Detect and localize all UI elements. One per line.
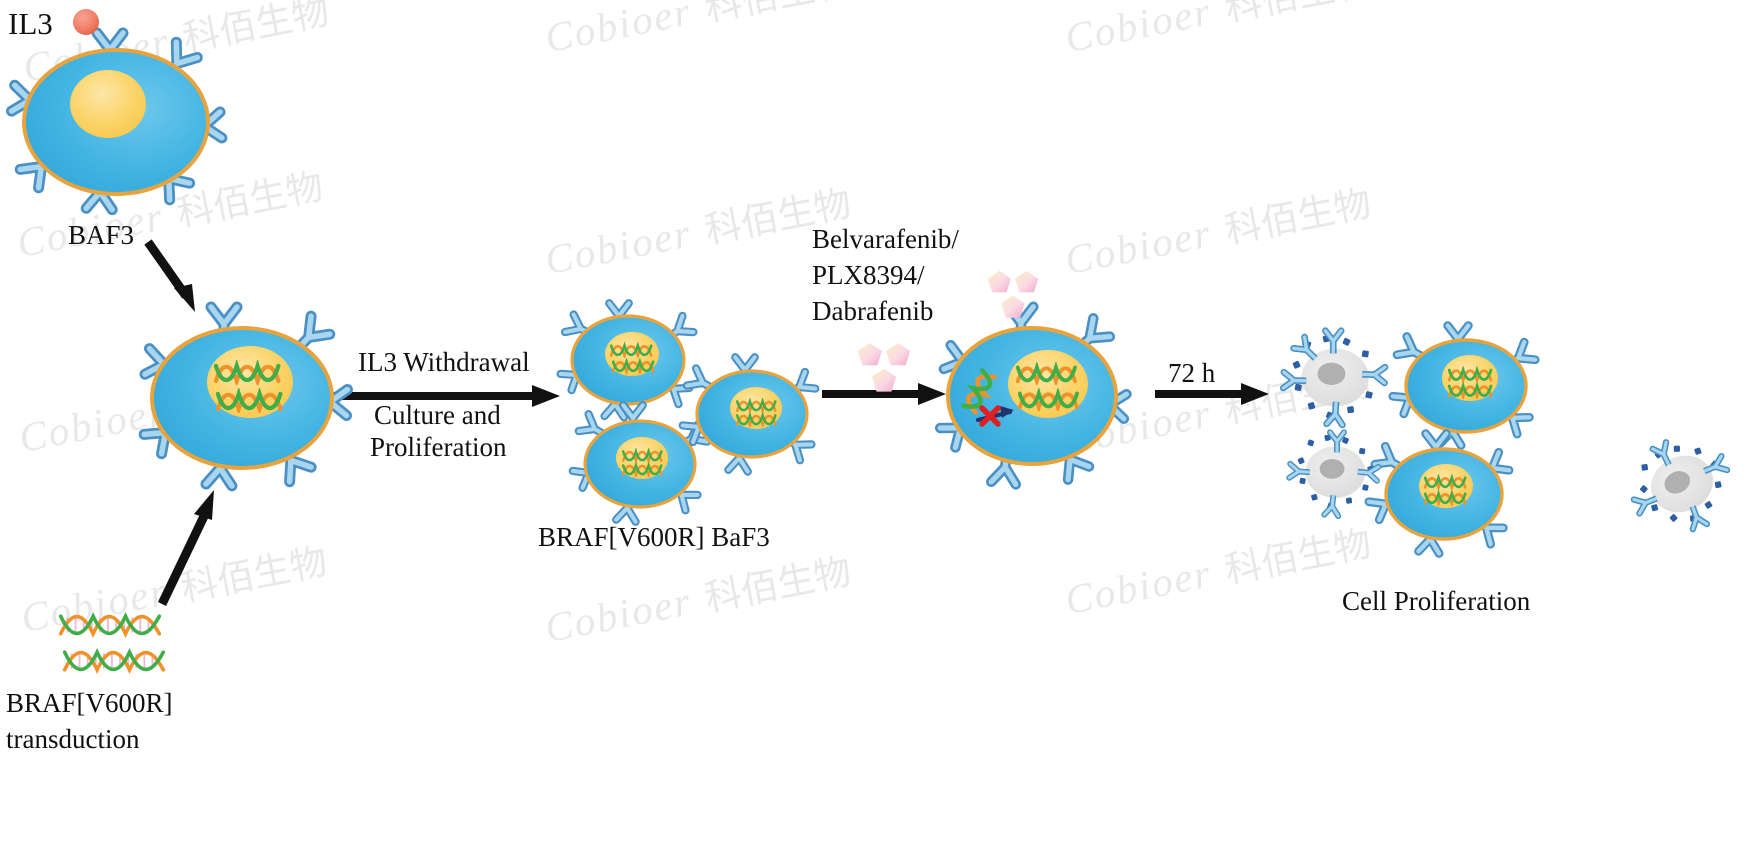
braf-transduced-cell [142,300,352,490]
drug-label-line2: PLX8394/ [812,258,925,293]
watermark-cjk: 科佰生物 [701,550,854,620]
culture-label-line2: Proliferation [370,430,506,465]
diagram-canvas: Cobioer科佰生物 Cobioer科佰生物 Cobioer科佰生物 Cobi… [0,0,1763,848]
watermark-latin: Cobioer [541,210,695,283]
watermark-latin: Cobioer [541,578,695,651]
watermark: Cobioer科佰生物 [540,0,855,63]
watermark-cjk: 科佰生物 [701,0,854,30]
drug-molecule-cluster-1 [855,340,913,396]
transduction-label-line1: BRAF[V600R] [6,686,173,721]
braf-baf3-label: BRAF[V600R] BaF3 [538,520,770,555]
watermark: Cobioer科佰生物 [1060,513,1375,625]
watermark: Cobioer科佰生物 [1060,0,1375,63]
baf3-label: BAF3 [68,218,134,253]
watermark-latin: Cobioer [1061,210,1215,283]
il3-withdrawal-label: IL3 Withdrawal [358,345,530,380]
baf3-parental-cell [8,26,228,216]
surviving-cell-2 [1368,428,1516,556]
braf-v600r-plasmid-2 [62,644,170,678]
braf-v600r-plasmid-1 [58,608,166,642]
watermark: Cobioer科佰生物 [540,541,855,653]
il3-label: IL3 [8,4,53,44]
watermark-cjk: 科佰生物 [1221,522,1374,592]
drug-molecule-cluster-2 [985,268,1041,322]
apoptotic-cell-2 [1288,430,1386,516]
watermark: Cobioer科佰生物 [1060,173,1375,285]
drug-label-line3: Dabrafenib [812,294,933,329]
il3-dot-icon [72,8,100,41]
culture-label-line1: Culture and [374,398,501,433]
watermark-latin: Cobioer [1061,550,1215,623]
drug-treated-cell [940,300,1130,490]
watermark-latin: Cobioer [1061,0,1215,61]
transduction-label-line2: transduction [6,722,139,757]
arrow-transduction [150,480,230,610]
drug-label-line1: Belvarafenib/ [812,222,959,257]
cell-proliferation-label: Cell Proliferation [1342,584,1530,619]
proliferating-cell-3 [682,352,822,476]
watermark-cjk: 科佰生物 [1221,182,1374,252]
apoptotic-cell-3 [1620,438,1748,530]
watermark-cjk: 科佰生物 [1221,0,1374,30]
watermark-latin: Cobioer [541,0,695,61]
time-label: 72 h [1168,356,1215,391]
watermark: Cobioer科佰生物 [540,173,855,285]
apoptotic-cell-1 [1282,330,1392,427]
